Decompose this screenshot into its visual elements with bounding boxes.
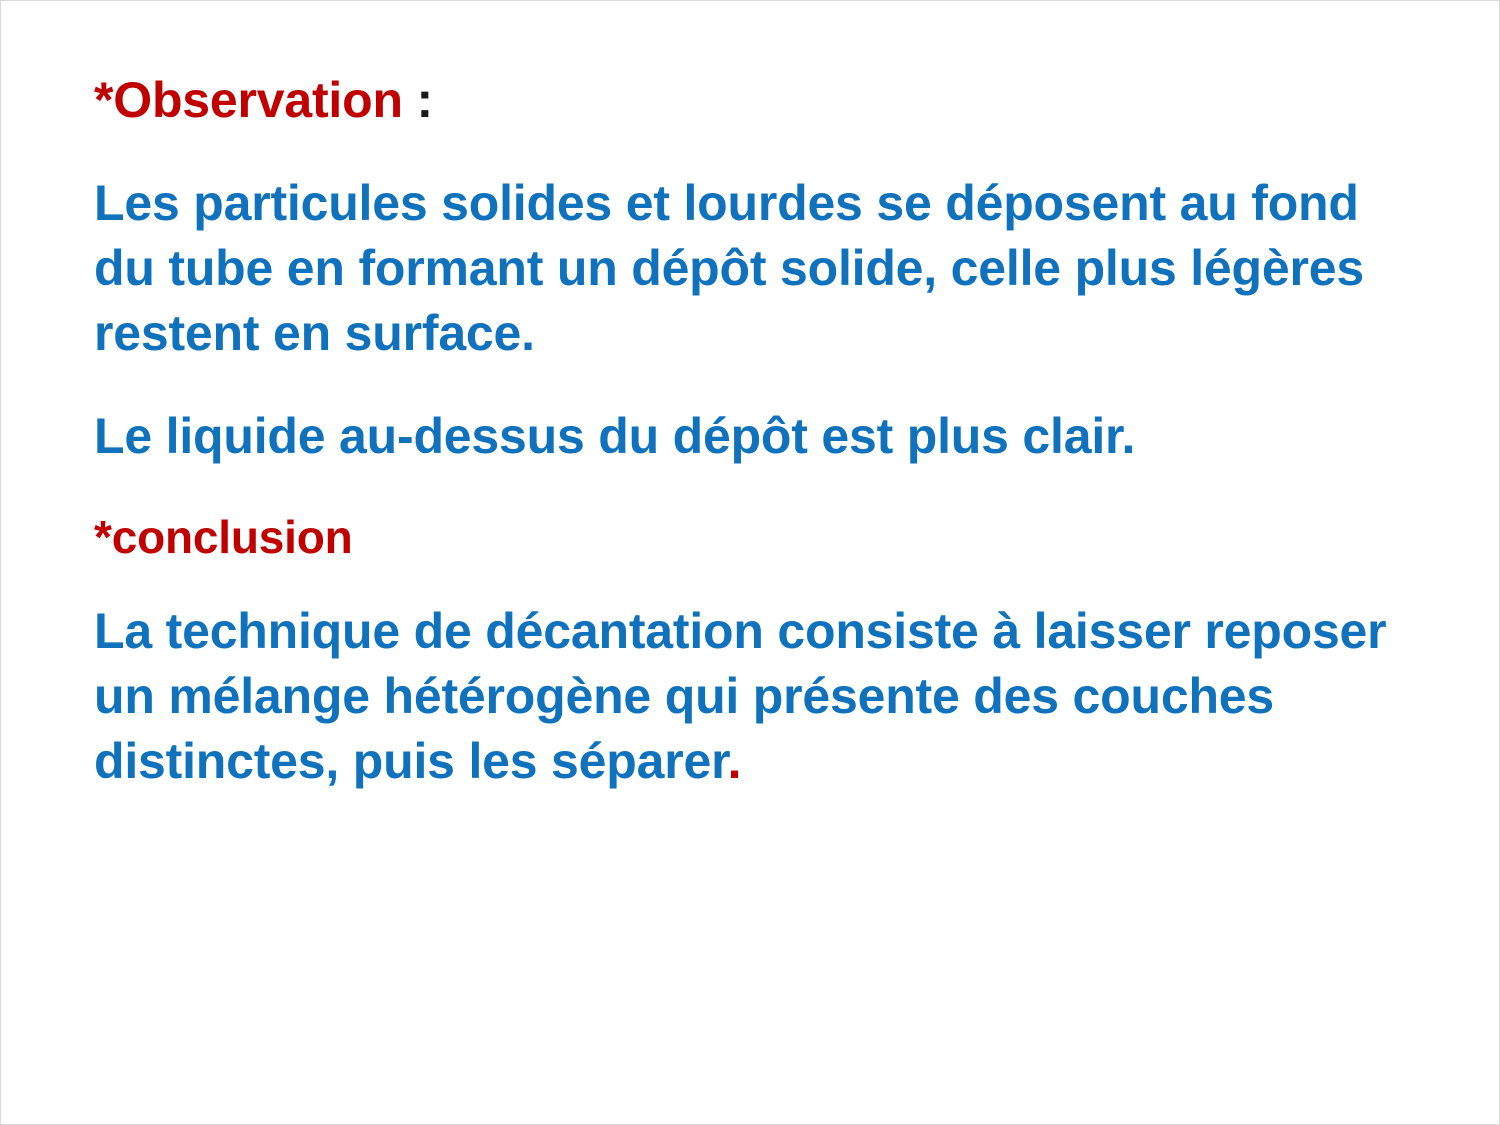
slide-canvas: *Observation : Les particules solides et… bbox=[0, 0, 1500, 1125]
slide-content: *Observation : Les particules solides et… bbox=[94, 73, 1424, 794]
observation-paragraph-1: Les particules solides et lourdes se dép… bbox=[94, 171, 1424, 366]
conclusion-final-period: . bbox=[728, 733, 742, 789]
conclusion-heading: *conclusion bbox=[94, 513, 1424, 563]
observation-heading-colon: : bbox=[403, 72, 433, 128]
conclusion-heading-marker: *conclusion bbox=[94, 511, 353, 563]
observation-paragraph-2: Le liquide au-dessus du dépôt est plus c… bbox=[94, 404, 1424, 469]
conclusion-paragraph: La technique de décantation consiste à l… bbox=[94, 599, 1424, 794]
observation-heading: *Observation : bbox=[94, 73, 1424, 127]
observation-heading-marker: *Observation bbox=[94, 72, 403, 128]
